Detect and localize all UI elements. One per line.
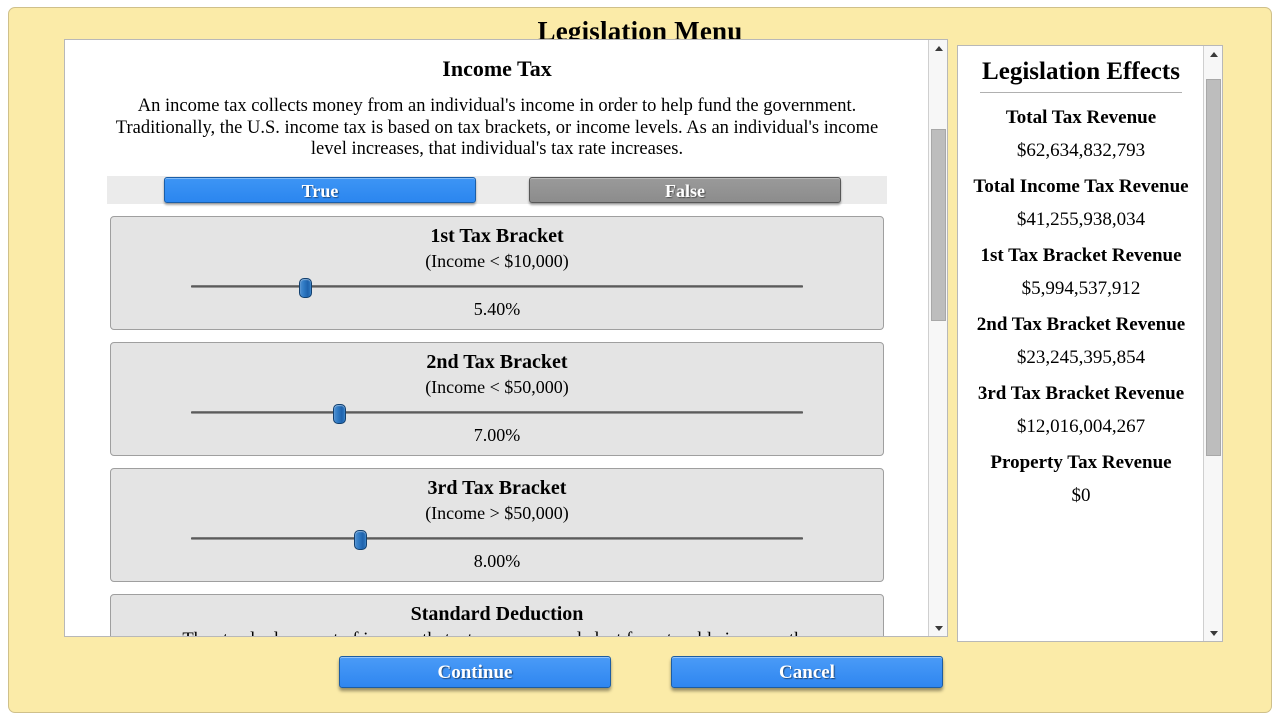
triangle-up-icon[interactable]	[929, 40, 948, 56]
standard-deduction-title: Standard Deduction	[111, 603, 883, 626]
slider-track-3[interactable]	[191, 537, 803, 540]
toggle-true-button[interactable]: True	[164, 177, 476, 203]
bracket-value-1: 5.40%	[111, 299, 883, 320]
slider-thumb-1[interactable]	[299, 278, 312, 298]
slider-track-2[interactable]	[191, 411, 803, 414]
bracket-title-2: 2nd Tax Bracket	[111, 351, 883, 374]
slider-track-1[interactable]	[191, 285, 803, 288]
bracket-slider-2[interactable]	[191, 402, 803, 422]
section-title: Income Tax	[75, 56, 919, 82]
effect-label-1st-bracket-revenue: 1st Tax Bracket Revenue	[966, 245, 1196, 267]
effects-divider	[980, 92, 1182, 93]
triangle-up-icon[interactable]	[1204, 46, 1223, 62]
effect-label-property-tax-revenue: Property Tax Revenue	[966, 452, 1196, 474]
legislation-window: Legislation Menu Income Tax An income ta…	[8, 7, 1272, 713]
toggle-false-button[interactable]: False	[529, 177, 841, 203]
bracket-value-2: 7.00%	[111, 425, 883, 446]
effect-value-property-tax-revenue: $0	[966, 485, 1196, 507]
effect-value-3rd-bracket-revenue: $12,016,004,267	[966, 416, 1196, 438]
effects-title: Legislation Effects	[966, 58, 1196, 86]
effect-label-total-tax-revenue: Total Tax Revenue	[966, 107, 1196, 129]
effects-panel-scrollbar[interactable]	[1203, 46, 1222, 641]
standard-deduction-card: Standard Deduction The standard amount o…	[110, 594, 884, 637]
footer-actions: Continue Cancel	[9, 656, 1273, 696]
standard-deduction-description: The standard amount of income that a tax…	[129, 629, 865, 637]
bracket-slider-3[interactable]	[191, 528, 803, 548]
tax-bracket-card-1: 1st Tax Bracket (Income < $10,000) 5.40%	[110, 216, 884, 330]
effect-label-3rd-bracket-revenue: 3rd Tax Bracket Revenue	[966, 383, 1196, 405]
continue-button[interactable]: Continue	[339, 656, 611, 688]
true-false-toggle-group: True False	[107, 176, 887, 204]
cancel-button[interactable]: Cancel	[671, 656, 943, 688]
effects-scrollbar-thumb[interactable]	[1206, 79, 1221, 456]
legislation-effects-scroll-area: Legislation Effects Total Tax Revenue $6…	[958, 46, 1204, 641]
effect-label-total-income-tax-revenue: Total Income Tax Revenue	[966, 176, 1196, 198]
legislation-effects-panel: Legislation Effects Total Tax Revenue $6…	[957, 45, 1223, 642]
tax-bracket-card-3: 3rd Tax Bracket (Income > $50,000) 8.00%	[110, 468, 884, 582]
bracket-value-3: 8.00%	[111, 551, 883, 572]
triangle-down-icon[interactable]	[1204, 625, 1223, 641]
triangle-down-icon[interactable]	[929, 620, 948, 636]
effect-value-1st-bracket-revenue: $5,994,537,912	[966, 278, 1196, 300]
bracket-title-3: 3rd Tax Bracket	[111, 477, 883, 500]
effect-value-2nd-bracket-revenue: $23,245,395,854	[966, 347, 1196, 369]
slider-thumb-2[interactable]	[333, 404, 346, 424]
slider-thumb-3[interactable]	[354, 530, 367, 550]
legislation-detail-panel: Income Tax An income tax collects money …	[64, 39, 948, 637]
section-description: An income tax collects money from an ind…	[97, 96, 897, 161]
tax-bracket-card-2: 2nd Tax Bracket (Income < $50,000) 7.00%	[110, 342, 884, 456]
main-scrollbar-thumb[interactable]	[931, 129, 946, 321]
bracket-subtitle-1: (Income < $10,000)	[111, 251, 883, 272]
legislation-menu-screen: Legislation Menu Income Tax An income ta…	[0, 0, 1280, 720]
effect-label-2nd-bracket-revenue: 2nd Tax Bracket Revenue	[966, 314, 1196, 336]
bracket-slider-1[interactable]	[191, 276, 803, 296]
bracket-subtitle-3: (Income > $50,000)	[111, 503, 883, 524]
effect-value-total-tax-revenue: $62,634,832,793	[966, 140, 1196, 162]
main-panel-scrollbar[interactable]	[928, 40, 947, 636]
bracket-title-1: 1st Tax Bracket	[111, 225, 883, 248]
bracket-subtitle-2: (Income < $50,000)	[111, 377, 883, 398]
effect-value-total-income-tax-revenue: $41,255,938,034	[966, 209, 1196, 231]
legislation-detail-scroll-area: Income Tax An income tax collects money …	[65, 40, 929, 636]
